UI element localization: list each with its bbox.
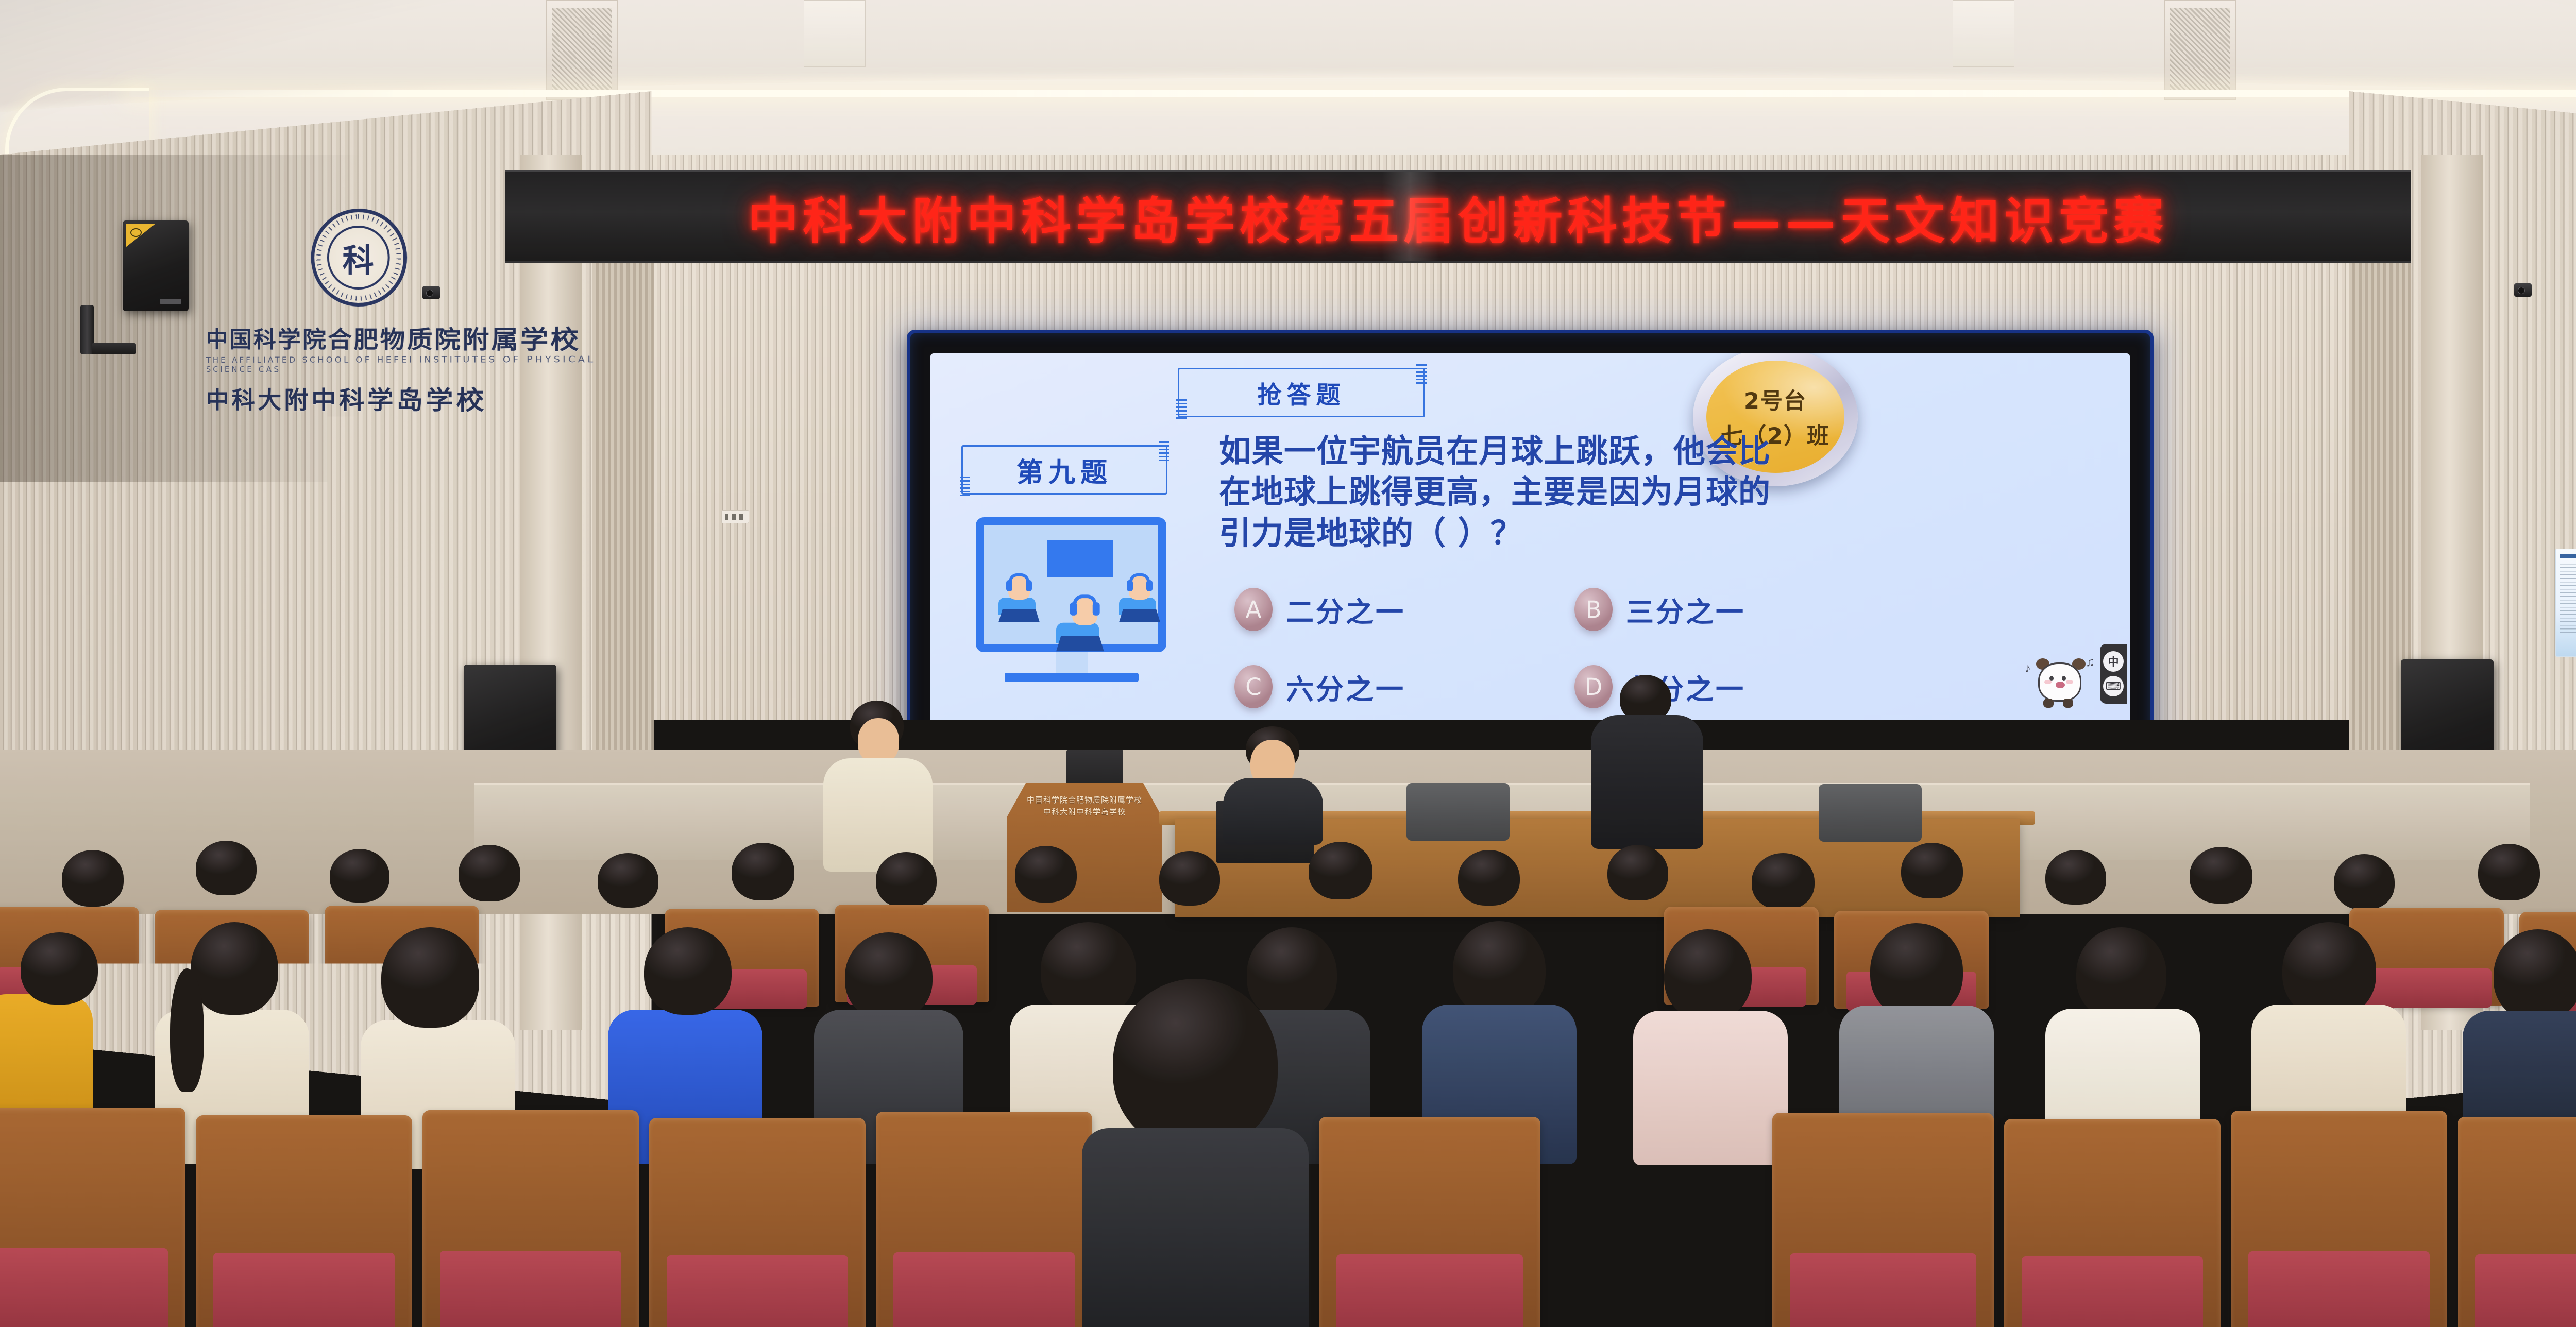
headset-earcup-icon bbox=[1070, 602, 1077, 616]
ac-cassette-right bbox=[2164, 0, 2236, 100]
projection-screen[interactable]: 抢答题 第九题 2号台 七（2）班 如果一位宇航员在月球上跳跃，他会比 在地球上… bbox=[907, 330, 2154, 762]
led-banner: 中科大附中科学岛学校第五届创新科技节——天文知识竞赛 bbox=[505, 170, 2411, 263]
poster-heading-bar bbox=[2560, 554, 2576, 558]
audience-head bbox=[1453, 921, 1546, 1017]
laptop-icon bbox=[1119, 609, 1160, 622]
panda-leg bbox=[2063, 699, 2073, 708]
participant-figure-left bbox=[998, 576, 1040, 622]
audience-head bbox=[1901, 843, 1963, 898]
headset-earcup-icon bbox=[1127, 580, 1133, 591]
auditorium-seat-front[interactable] bbox=[2231, 1111, 2447, 1327]
audience-head bbox=[1607, 845, 1668, 900]
option-text-b: 三分之一 bbox=[1626, 589, 1745, 630]
auditorium-seat-front[interactable] bbox=[422, 1110, 639, 1327]
wall-speaker-left bbox=[123, 220, 189, 311]
speaker-brand-badge bbox=[126, 224, 156, 247]
host-with-microphone-left bbox=[819, 701, 938, 860]
audience-head bbox=[2494, 929, 2576, 1021]
audience-head bbox=[1309, 842, 1372, 899]
headset-earcup-icon bbox=[1146, 580, 1153, 591]
audience-head bbox=[1458, 850, 1520, 906]
panda-leg bbox=[2043, 699, 2054, 708]
seat-cushion bbox=[1790, 1253, 1976, 1327]
ac-vent-right bbox=[1953, 0, 2014, 67]
seat-cushion bbox=[2362, 968, 2492, 1008]
answer-option-b[interactable]: B 三分之一 bbox=[1574, 588, 1745, 631]
question-line-2: 在地球上跳得更高，主要是因为月球的 bbox=[1219, 471, 1899, 512]
chair-back-center bbox=[1406, 783, 1510, 841]
monitor-base bbox=[1005, 673, 1139, 682]
audience-head-front bbox=[1535, 963, 1710, 1144]
seat-cushion bbox=[893, 1252, 1075, 1327]
auditorium-seat-front[interactable] bbox=[1772, 1113, 1994, 1327]
audience-head bbox=[1041, 922, 1136, 1017]
fire-hydrant-sign-left: 火栓 bbox=[155, 667, 181, 690]
audience-head bbox=[2334, 854, 2395, 910]
wall-school-name-english: THE AFFILIATED SCHOOL OF HEFEI INSTITUTE… bbox=[206, 354, 619, 376]
host-at-desk bbox=[1206, 726, 1340, 835]
auditorium-seat-front[interactable] bbox=[196, 1115, 412, 1327]
audience-head bbox=[196, 841, 257, 895]
round-type-label: 抢答题 bbox=[1178, 368, 1425, 417]
audience-head bbox=[1247, 927, 1337, 1020]
wall-school-name-line1: 中国科学院合肥物质院附属学校 bbox=[206, 319, 619, 357]
answer-option-a[interactable]: A 二分之一 bbox=[1234, 588, 1405, 631]
seat-cushion bbox=[0, 1248, 168, 1327]
wall-school-name-line2: 中科大附中科学岛学校 bbox=[206, 378, 619, 417]
option-key-c: C bbox=[1234, 665, 1273, 708]
auditorium-seat-front[interactable] bbox=[0, 1108, 185, 1327]
audience-head bbox=[598, 853, 658, 908]
monitor-neck bbox=[1056, 652, 1088, 673]
notice-poster-right bbox=[2555, 549, 2576, 657]
audience-head bbox=[191, 922, 278, 1015]
seat-cushion bbox=[2248, 1251, 2430, 1327]
audience-head bbox=[644, 927, 732, 1015]
ime-floating-toolbar[interactable]: 中 ⌨ bbox=[2100, 644, 2127, 704]
audience-head bbox=[459, 845, 520, 901]
cove-light-strip bbox=[129, 90, 2576, 97]
audience-coat-front-dark-2 bbox=[1499, 1123, 1736, 1327]
audience-head bbox=[1159, 851, 1220, 906]
security-camera-left bbox=[422, 286, 440, 299]
auditorium-seat-front[interactable] bbox=[649, 1118, 866, 1327]
lectern-name-plate: 中国科学院合肥物质院附属学校 中科大附中科学岛学校 bbox=[1007, 794, 1162, 818]
student-puffer-jacket bbox=[1591, 715, 1703, 849]
panda-eye bbox=[2062, 676, 2066, 681]
audience-head-front bbox=[1113, 979, 1278, 1149]
auditorium-scene: 中科大附中科学岛学校第五届创新科技节——天文知识竞赛 科 中国科学院合肥物质院附… bbox=[0, 0, 2576, 1327]
presenter-head bbox=[858, 718, 899, 763]
led-banner-text: 中科大附中科学岛学校第五届创新科技节——天文知识竞赛 bbox=[748, 180, 2168, 253]
auditorium-seat-front[interactable] bbox=[2458, 1117, 2576, 1327]
wall-plate-left bbox=[149, 484, 185, 500]
seat-cushion bbox=[213, 1253, 395, 1327]
participant-figure-center bbox=[1056, 598, 1113, 651]
audience-head bbox=[62, 850, 124, 907]
presentation-slide[interactable]: 抢答题 第九题 2号台 七（2）班 如果一位宇航员在月球上跳跃，他会比 在地球上… bbox=[930, 353, 2130, 753]
seat-cushion bbox=[667, 1255, 849, 1327]
laptop-icon bbox=[1056, 636, 1104, 651]
audience-head bbox=[1015, 846, 1077, 903]
headset-earcup-icon bbox=[1006, 580, 1012, 591]
poster-body-lines bbox=[2560, 564, 2576, 636]
panda-eye bbox=[2049, 676, 2054, 681]
ac-cassette-left bbox=[546, 0, 618, 100]
ac-vent-left bbox=[804, 0, 866, 67]
option-key-a: A bbox=[1234, 588, 1273, 631]
question-line-3: 引力是地球的（ ）？ bbox=[1219, 513, 1899, 553]
audience-head bbox=[1870, 923, 1963, 1018]
audience-coat-front-dark bbox=[1082, 1128, 1309, 1327]
audience-head bbox=[2190, 847, 2252, 904]
audience-head bbox=[1752, 853, 1815, 910]
seal-center-glyph: 科 bbox=[327, 225, 390, 290]
host-jacket bbox=[1223, 778, 1323, 845]
standing-student-right bbox=[1582, 675, 1710, 845]
music-note-icon: ♫ bbox=[2086, 655, 2095, 670]
question-number-label: 第九题 bbox=[961, 445, 1167, 495]
monitor-illustration-icon bbox=[976, 517, 1166, 687]
audience-ponytail bbox=[170, 968, 204, 1092]
monitor-screen-shape bbox=[976, 517, 1166, 652]
school-seal-emblem: 科 bbox=[311, 208, 408, 308]
speaker-logo bbox=[160, 299, 181, 304]
participant-figure-right bbox=[1119, 576, 1160, 622]
laptop-icon bbox=[998, 609, 1040, 622]
ime-language-toggle[interactable]: 中 bbox=[2103, 651, 2124, 672]
security-camera-right bbox=[2514, 283, 2532, 297]
answer-option-c[interactable]: C 六分之一 bbox=[1234, 665, 1405, 708]
seat-cushion bbox=[2022, 1256, 2204, 1327]
ime-keyboard-icon[interactable]: ⌨ bbox=[2103, 676, 2124, 696]
option-text-a: 二分之一 bbox=[1286, 589, 1405, 630]
monitor-inner-board bbox=[1047, 540, 1113, 577]
seat-cushion bbox=[1336, 1254, 1522, 1327]
option-text-c: 六分之一 bbox=[1286, 667, 1405, 707]
auditorium-seat-front[interactable] bbox=[876, 1112, 1092, 1327]
audience-head bbox=[330, 849, 389, 903]
question-text: 如果一位宇航员在月球上跳跃，他会比 在地球上跳得更高，主要是因为月球的 引力是地… bbox=[1219, 431, 1899, 553]
headset-earcup-icon bbox=[1026, 580, 1032, 591]
audience-head bbox=[2045, 850, 2106, 905]
panda-cheek bbox=[2066, 680, 2073, 684]
team-station-number: 2号台 bbox=[1744, 383, 1807, 415]
speaker-mount-arm-left bbox=[92, 343, 136, 354]
chair-back-right bbox=[1819, 784, 1922, 842]
question-line-1: 如果一位宇航员在月球上跳跃，他会比 bbox=[1219, 431, 1899, 471]
dancing-panda-sticker: ♪ ♫ bbox=[2031, 653, 2092, 710]
wall-socket-left[interactable] bbox=[721, 510, 749, 523]
audience-head bbox=[2282, 922, 2376, 1018]
option-key-b: B bbox=[1574, 588, 1613, 631]
auditorium-seat-front[interactable] bbox=[2004, 1119, 2221, 1327]
audience-head bbox=[876, 852, 937, 908]
panda-mouth bbox=[2056, 682, 2065, 688]
seat-cushion bbox=[2475, 1254, 2576, 1327]
lectern-plate-line1: 中国科学院合肥物质院附属学校 bbox=[1007, 794, 1162, 806]
audience-head bbox=[845, 932, 933, 1020]
music-note-icon: ♪ bbox=[2025, 661, 2031, 676]
audience-head bbox=[21, 932, 98, 1005]
acoustic-curtain-left bbox=[592, 222, 654, 778]
audience-head bbox=[381, 927, 479, 1028]
audience-head bbox=[2076, 927, 2166, 1020]
audience-head bbox=[732, 843, 794, 900]
seat-cushion bbox=[440, 1251, 622, 1327]
headset-earcup-icon bbox=[1093, 602, 1100, 616]
lectern-plate-line2: 中科大附中科学岛学校 bbox=[1007, 806, 1162, 818]
audience-head bbox=[2478, 844, 2540, 900]
